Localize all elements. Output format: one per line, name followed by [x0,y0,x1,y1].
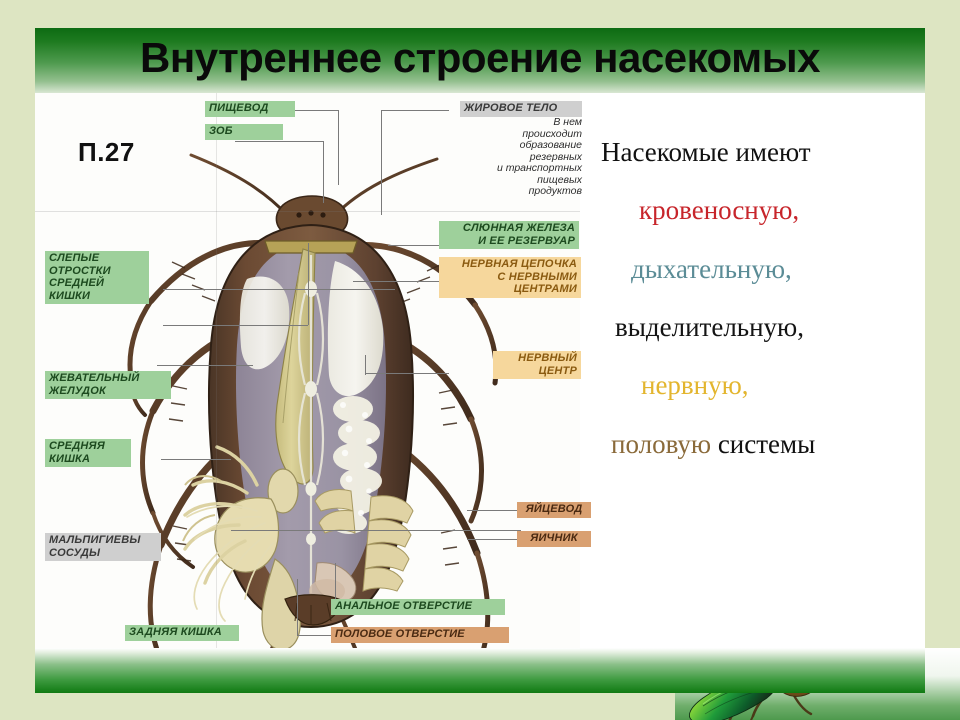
label-gastric-caeca[interactable]: СЛЕПЫЕ ОТРОСТКИ СРЕДНЕЙ КИШКИ [45,251,149,304]
label-malpighian-vessels[interactable]: МАЛЬПИГИЕВЫ СОСУДЫ [45,533,161,561]
label-gizzard[interactable]: ЖЕВАТЕЛЬНЫЙ ЖЕЛУДОК [45,371,171,399]
leader-caeca [163,325,308,326]
slide: Внутреннее строение насекомых [0,0,960,720]
label-midgut[interactable]: СРЕДНЯЯ КИШКА [45,439,131,467]
leader-malpighian [161,459,231,460]
label-nerve-center[interactable]: НЕРВНЫЙ ЦЕНТР [493,351,581,379]
fat-body-description: В нем происходит образование резервных и… [440,117,582,198]
leader-crop [235,141,323,142]
page-title: Внутреннее строение насекомых [35,34,925,82]
system-reproductive: половую [611,429,711,459]
leader-nervecord [353,281,443,282]
plate-gridline [35,211,580,212]
slide-canvas: ПИЩЕВОД ЗОБ ЖИРОВОЕ ТЕЛО В нем происходи… [35,93,925,648]
plate-gridline [216,93,217,648]
leader-ovary [467,539,517,540]
leader-oviduct [467,510,517,511]
label-esophagus[interactable]: ПИЩЕВОД [205,101,295,117]
system-nervous: нервную, [641,371,925,399]
leader-hindgut [231,530,521,531]
label-nerve-cord[interactable]: НЕРВНАЯ ЦЕПОЧКА С НЕРВНЫМИ ЦЕНТРАМИ [439,257,581,298]
systems-suffix: системы [711,429,815,459]
label-crop[interactable]: ЗОБ [205,124,283,140]
leader-nervecenter [365,373,449,374]
system-respiratory: дыхательную, [631,255,925,283]
system-excretory: выделительную, [615,313,925,341]
label-fat-body[interactable]: ЖИРОВОЕ ТЕЛО [460,101,582,117]
system-circulatory: кровеносную, [639,196,925,224]
leader-crop-drop [323,141,324,203]
label-hindgut[interactable]: ЗАДНЯЯ КИШКА [125,625,239,641]
leader-caeca-drop [308,243,309,325]
label-salivary-gland[interactable]: СЛЮННАЯ ЖЕЛЕЗА И ЕЕ РЕЗЕРВУАР [439,221,579,249]
leader-midgut [157,365,253,366]
leader-genital-drop [297,579,298,635]
page-number-mark: П.27 [78,137,135,168]
leader-fatbody [381,110,449,111]
footer-band [35,648,925,693]
leader-esophagus-drop [338,110,339,185]
label-oviduct[interactable]: ЯЙЦЕВОД [517,502,591,518]
systems-text-column: Насекомые имеют кровеносную, дыхательную… [595,138,925,608]
label-anus[interactable]: АНАЛЬНОЕ ОТВЕРСТИЕ [331,599,505,615]
label-genital-opening[interactable]: ПОЛОВОЕ ОТВЕРСТИЕ [331,627,509,643]
leader-gizzard [163,289,395,290]
systems-lead-line: Насекомые имеют [601,138,925,166]
leader-nervecenter-drop [365,355,366,375]
label-ovary[interactable]: ЯИЧНИК [517,531,591,547]
system-reproductive-line: половую системы [611,430,925,458]
leader-fatbody-drop [381,110,382,215]
